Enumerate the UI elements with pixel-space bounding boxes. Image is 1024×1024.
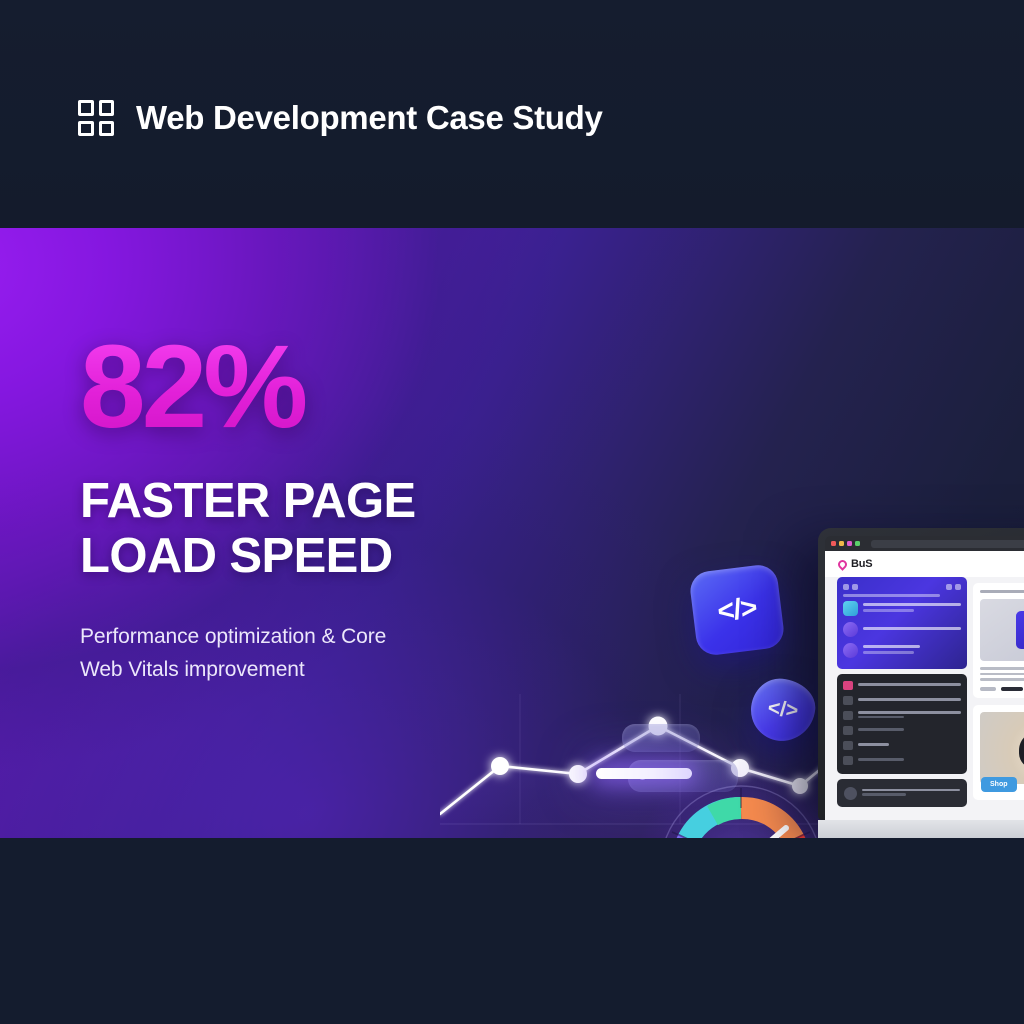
list-item[interactable]	[843, 622, 961, 637]
site-logo-mark-icon	[836, 558, 849, 571]
menu-item[interactable]	[843, 696, 961, 705]
hero-banner: 82% FASTER PAGE LOAD SPEED Performance o…	[0, 228, 1024, 838]
ui-card-shape	[622, 724, 700, 752]
menu-item[interactable]	[843, 726, 961, 735]
menu-item[interactable]	[843, 711, 961, 720]
text-line	[858, 683, 961, 686]
text-line	[980, 678, 1024, 681]
text-line	[863, 609, 914, 612]
desktop-monitor: BuS	[818, 528, 1024, 820]
text-line	[980, 673, 1024, 676]
list-item[interactable]	[843, 601, 961, 616]
site-hero-panel	[837, 577, 967, 669]
list-item-icon	[843, 601, 858, 616]
text-line	[862, 793, 906, 796]
site-right-column: </>	[973, 577, 1024, 820]
browser-viewport: BuS	[825, 551, 1024, 820]
subcopy-line-1: Performance optimization & Core	[80, 621, 416, 654]
grid-2x2-icon	[78, 100, 114, 136]
card-tag[interactable]	[1001, 687, 1023, 691]
browser-address-bar[interactable]	[871, 540, 1024, 548]
menu-item-text	[858, 758, 961, 763]
text-line	[858, 758, 904, 761]
site-menu-panel	[837, 674, 967, 774]
site-footer-card[interactable]	[837, 779, 967, 807]
headline-line-2: LOAD SPEED	[80, 529, 416, 585]
hero-subcopy: Performance optimization & Core Web Vita…	[80, 621, 416, 687]
footer-card-text	[862, 789, 960, 798]
menu-item-icon	[843, 756, 853, 765]
browser-chrome	[825, 536, 1024, 551]
case-study-slide: Web Development Case Study 82% FASTER PA…	[0, 0, 1024, 1024]
panel-dot	[843, 584, 849, 590]
footer-card-icon	[844, 787, 857, 800]
grid-cell	[99, 121, 115, 137]
code-icon-large: </>	[688, 563, 786, 657]
hero-headline: FASTER PAGE LOAD SPEED	[80, 474, 416, 586]
text-line	[980, 667, 1024, 670]
text-line	[863, 651, 914, 654]
headphone-icon	[1019, 730, 1024, 770]
menu-item-text	[858, 728, 961, 733]
card-tag[interactable]	[980, 687, 996, 691]
text-line	[862, 789, 960, 792]
menu-item-icon	[843, 681, 853, 690]
page-header: Web Development Case Study	[0, 0, 1024, 228]
card-media: </>	[980, 599, 1024, 661]
chart-node	[491, 757, 509, 775]
menu-item[interactable]	[843, 681, 961, 690]
card-photo	[980, 712, 1024, 784]
browser-extra-dot[interactable]	[855, 541, 860, 546]
headline-line-1: FASTER PAGE	[80, 474, 416, 530]
list-item-icon	[843, 622, 858, 637]
browser-close-dot[interactable]	[831, 541, 836, 546]
grid-cell	[78, 100, 94, 116]
text-line	[858, 743, 889, 746]
card-tags	[980, 687, 1024, 691]
panel-header	[843, 584, 961, 590]
list-item-text	[863, 627, 961, 633]
menu-item-icon	[843, 741, 853, 750]
list-item-text	[863, 603, 961, 615]
content-card[interactable]: Shop	[973, 705, 1024, 800]
glow-bar-left	[596, 768, 692, 779]
browser-maximize-dot[interactable]	[847, 541, 852, 546]
text-line	[858, 716, 904, 719]
menu-item-icon	[843, 726, 853, 735]
card-cta-button[interactable]: Shop	[981, 777, 1017, 792]
site-topbar: BuS	[825, 551, 1024, 577]
subcopy-line-2: Web Vitals improvement	[80, 654, 416, 687]
menu-item-text	[858, 743, 961, 748]
site-logo-text: BuS	[851, 558, 872, 570]
list-item-icon	[843, 643, 858, 658]
text-line	[858, 698, 961, 701]
monitor-frame: BuS	[818, 528, 1024, 820]
text-line	[863, 627, 961, 630]
card-title-placeholder	[980, 590, 1024, 593]
speed-gauge: 1igeth	[655, 780, 827, 838]
header-inner: Web Development Case Study	[78, 99, 603, 137]
list-item-text	[863, 645, 961, 657]
hero-copy: 82% FASTER PAGE LOAD SPEED Performance o…	[80, 333, 416, 687]
text-line	[863, 603, 961, 606]
panel-dot	[852, 584, 858, 590]
card-paragraph	[980, 667, 1024, 681]
grid-cell	[78, 121, 94, 137]
monitor-bezel	[818, 820, 1024, 838]
panel-dot	[946, 584, 952, 590]
menu-item-text	[858, 683, 961, 688]
site-body: </>	[825, 577, 1024, 820]
menu-item[interactable]	[843, 756, 961, 765]
card-code-icon: </>	[1016, 611, 1024, 649]
text-line	[858, 711, 961, 714]
browser-minimize-dot[interactable]	[839, 541, 844, 546]
content-card[interactable]: </>	[973, 583, 1024, 698]
grid-cell	[99, 100, 115, 116]
text-line	[858, 728, 904, 731]
gauge-svg	[655, 780, 827, 838]
site-left-column	[837, 577, 967, 820]
stat-percentage: 82%	[80, 333, 416, 442]
text-line	[863, 645, 920, 648]
menu-item-text	[858, 698, 961, 703]
panel-text-line	[843, 594, 940, 597]
list-item[interactable]	[843, 643, 961, 658]
menu-item-icon	[843, 711, 853, 720]
menu-item[interactable]	[843, 741, 961, 750]
panel-dot	[955, 584, 961, 590]
menu-item-icon	[843, 696, 853, 705]
menu-item-text	[858, 711, 961, 720]
page-title: Web Development Case Study	[136, 99, 603, 137]
chart-node	[569, 765, 587, 783]
